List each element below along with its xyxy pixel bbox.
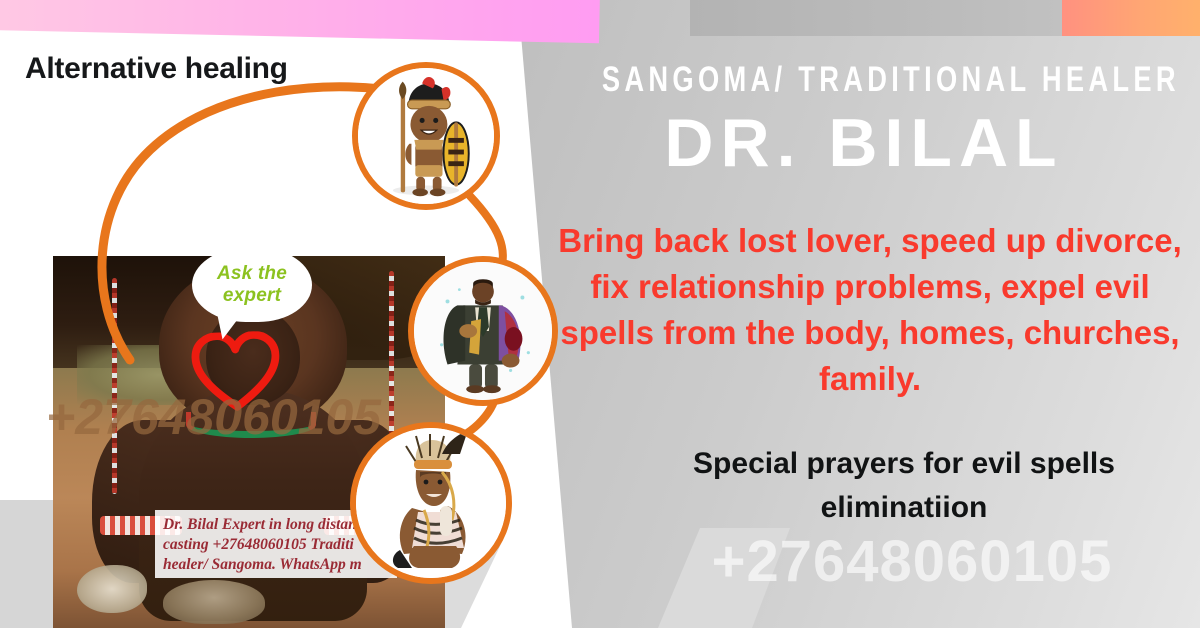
crouching-warrior-icon (350, 422, 512, 584)
caption-line-3: healer/ Sangoma. WhatsApp m (163, 555, 391, 575)
kicker-title: SANGOMA/ TRADITIONAL HEALER (602, 60, 1126, 100)
caption-line-2: casting +27648060105 Traditi (163, 535, 391, 555)
bottom-left-gray-block (0, 500, 60, 628)
brand-title: DR. BILAL (528, 104, 1200, 182)
top-pink-strip (0, 0, 600, 43)
phone-number-watermark: +27648060105 (616, 528, 1200, 595)
photo-chicken (77, 565, 148, 613)
zulu-warrior-cartoon-icon (352, 62, 500, 210)
photo-phone-watermark: +27648060105 (46, 388, 381, 446)
poster-canvas: +27648060105 Ask the expert Dr. Bilal Ex… (0, 0, 1200, 628)
right-text-column: SANGOMA/ TRADITIONAL HEALER DR. BILAL Br… (528, 0, 1200, 628)
special-prayers-text: Special prayers for evil spells eliminat… (608, 442, 1200, 530)
alternative-healing-heading: Alternative healing (25, 52, 288, 86)
ask-the-expert-bubble: Ask the expert (192, 248, 312, 322)
ask-the-expert-label: Ask the expert (192, 263, 312, 307)
services-text: Bring back lost lover, speed up divorce,… (540, 218, 1200, 402)
photo-clay-pot (163, 580, 265, 625)
photo-bead-strand-left (112, 278, 117, 494)
